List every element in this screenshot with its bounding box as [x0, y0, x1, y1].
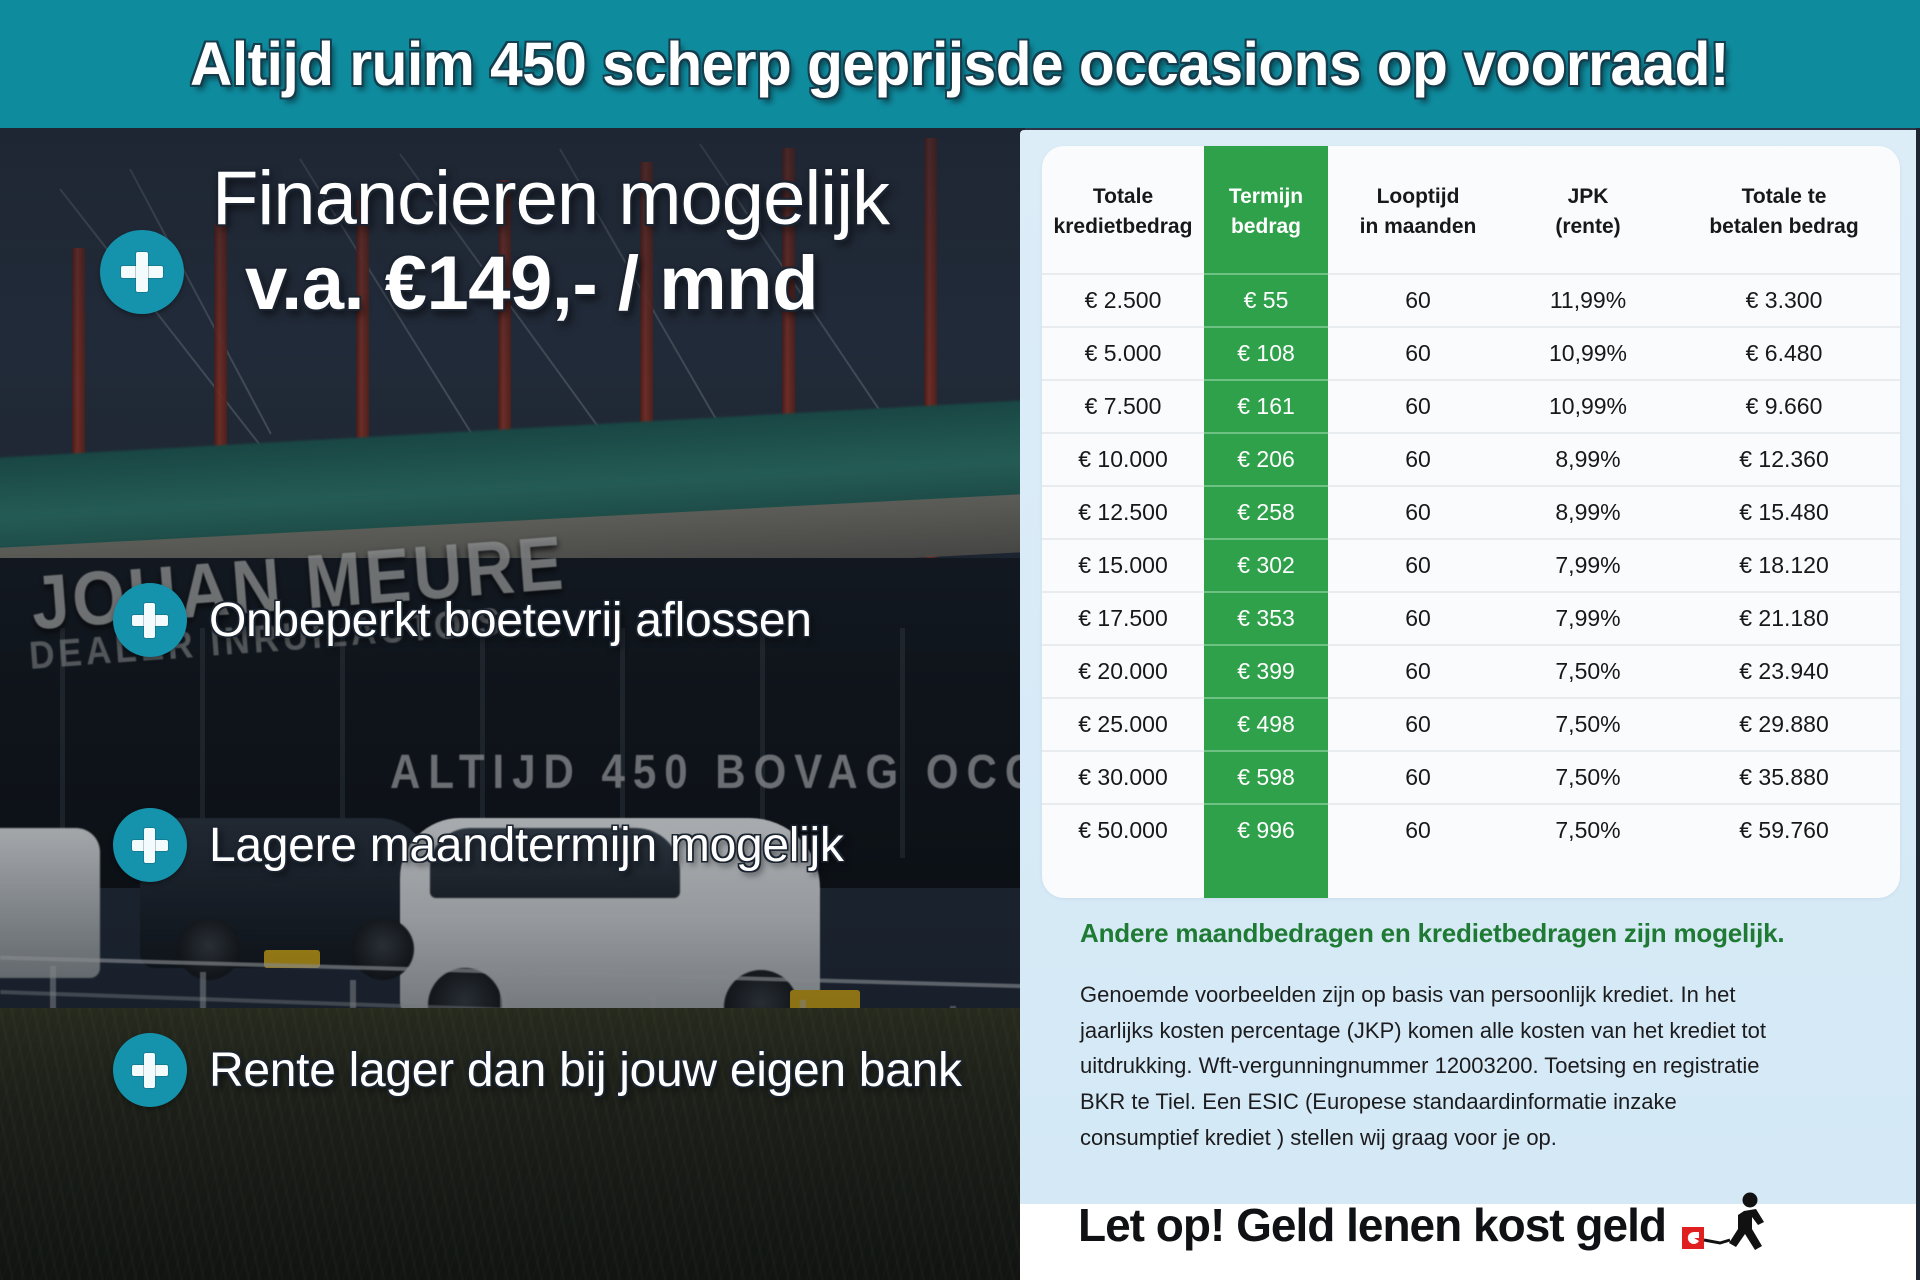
- fineprint-section: Andere maandbedragen en kredietbedragen …: [1020, 918, 1920, 1155]
- cell-krediet: € 30.000: [1042, 751, 1204, 804]
- cell-jkp: 7,50%: [1508, 698, 1668, 751]
- cell-looptijd: 60: [1328, 751, 1508, 804]
- feature-item-1-label: Onbeperkt boetevrij aflossen: [209, 593, 812, 648]
- column-header-looptijd: Looptijd in maanden: [1328, 146, 1508, 274]
- table-row: € 30.000€ 598607,50%€ 35.880: [1042, 751, 1900, 804]
- headline-text: Altijd ruim 450 scherp geprijsde occasio…: [191, 29, 1730, 99]
- table-row: € 25.000€ 498607,50%€ 29.880: [1042, 698, 1900, 751]
- cell-krediet: € 15.000: [1042, 539, 1204, 592]
- cell-totaal: € 29.880: [1668, 698, 1900, 751]
- cell-krediet: € 25.000: [1042, 698, 1204, 751]
- column-header-totaal: Totale te betalen bedrag: [1668, 146, 1900, 274]
- financing-table: Totale kredietbedrag Termijn bedrag Loop…: [1042, 146, 1900, 857]
- cell-krediet: € 10.000: [1042, 433, 1204, 486]
- warning-row: Let op! Geld lenen kost geld: [1020, 1170, 1920, 1280]
- feature-item-2-label: Lagere maandtermijn mogelijk: [209, 818, 844, 873]
- cell-termijn: € 302: [1204, 539, 1328, 592]
- cell-looptijd: 60: [1328, 592, 1508, 645]
- feature-item-1: Onbeperkt boetevrij aflossen: [113, 583, 812, 657]
- cell-termijn: € 996: [1204, 804, 1328, 857]
- cell-jkp: 10,99%: [1508, 380, 1668, 433]
- cell-totaal: € 59.760: [1668, 804, 1900, 857]
- plus-icon: [100, 230, 184, 314]
- cell-krediet: € 7.500: [1042, 380, 1204, 433]
- cell-totaal: € 3.300: [1668, 274, 1900, 327]
- walking-man-dragging-weight-icon: [1680, 1191, 1776, 1259]
- financing-table-body: € 2.500€ 556011,99%€ 3.300€ 5.000€ 10860…: [1042, 274, 1900, 857]
- feature-item-3-label: Rente lager dan bij jouw eigen bank: [209, 1043, 962, 1098]
- cell-termijn: € 353: [1204, 592, 1328, 645]
- fineprint-heading: Andere maandbedragen en kredietbedragen …: [1080, 918, 1862, 949]
- warning-text: Let op! Geld lenen kost geld: [1078, 1198, 1666, 1252]
- cell-krediet: € 17.500: [1042, 592, 1204, 645]
- cell-totaal: € 6.480: [1668, 327, 1900, 380]
- feature-headline-block: Financieren mogelijk v.a. €149,- / mnd: [100, 158, 889, 327]
- headline-financing-line2: v.a. €149,- / mnd: [212, 240, 889, 327]
- cell-looptijd: 60: [1328, 645, 1508, 698]
- cell-totaal: € 18.120: [1668, 539, 1900, 592]
- cell-jkp: 7,99%: [1508, 592, 1668, 645]
- table-row: € 10.000€ 206608,99%€ 12.360: [1042, 433, 1900, 486]
- feature-list: Financieren mogelijk v.a. €149,- / mnd O…: [0, 128, 1025, 1280]
- column-header-krediet: Totale kredietbedrag: [1042, 146, 1204, 274]
- table-row: € 5.000€ 1086010,99%€ 6.480: [1042, 327, 1900, 380]
- cell-krediet: € 20.000: [1042, 645, 1204, 698]
- table-row: € 20.000€ 399607,50%€ 23.940: [1042, 645, 1900, 698]
- cell-krediet: € 12.500: [1042, 486, 1204, 539]
- feature-item-3: Rente lager dan bij jouw eigen bank: [113, 1033, 962, 1107]
- top-headline-banner: Altijd ruim 450 scherp geprijsde occasio…: [0, 0, 1920, 128]
- cell-totaal: € 15.480: [1668, 486, 1900, 539]
- cell-jkp: 7,50%: [1508, 645, 1668, 698]
- cell-termijn: € 206: [1204, 433, 1328, 486]
- column-header-jkp: JPK (rente): [1508, 146, 1668, 274]
- cell-jkp: 8,99%: [1508, 486, 1668, 539]
- cell-termijn: € 161: [1204, 380, 1328, 433]
- cell-termijn: € 258: [1204, 486, 1328, 539]
- cell-totaal: € 23.940: [1668, 645, 1900, 698]
- table-row: € 12.500€ 258608,99%€ 15.480: [1042, 486, 1900, 539]
- table-header-row: Totale kredietbedrag Termijn bedrag Loop…: [1042, 146, 1900, 274]
- cell-krediet: € 5.000: [1042, 327, 1204, 380]
- table-row: € 7.500€ 1616010,99%€ 9.660: [1042, 380, 1900, 433]
- cell-looptijd: 60: [1328, 327, 1508, 380]
- cell-looptijd: 60: [1328, 539, 1508, 592]
- cell-totaal: € 21.180: [1668, 592, 1900, 645]
- cell-termijn: € 598: [1204, 751, 1328, 804]
- cell-termijn: € 399: [1204, 645, 1328, 698]
- table-row: € 15.000€ 302607,99%€ 18.120: [1042, 539, 1900, 592]
- cell-jkp: 7,99%: [1508, 539, 1668, 592]
- cell-looptijd: 60: [1328, 804, 1508, 857]
- plus-icon: [113, 808, 187, 882]
- cell-jkp: 7,50%: [1508, 804, 1668, 857]
- cell-krediet: € 50.000: [1042, 804, 1204, 857]
- panel-right-edge: [1916, 128, 1920, 1280]
- cell-looptijd: 60: [1328, 433, 1508, 486]
- cell-jkp: 11,99%: [1508, 274, 1668, 327]
- financing-panel: Totale kredietbedrag Termijn bedrag Loop…: [1020, 130, 1920, 1280]
- cell-looptijd: 60: [1328, 486, 1508, 539]
- cell-looptijd: 60: [1328, 698, 1508, 751]
- financing-table-card: Totale kredietbedrag Termijn bedrag Loop…: [1042, 146, 1900, 898]
- cell-looptijd: 60: [1328, 380, 1508, 433]
- fineprint-body: Genoemde voorbeelden zijn op basis van p…: [1080, 977, 1770, 1155]
- cell-termijn: € 55: [1204, 274, 1328, 327]
- advertisement-banner: Altijd ruim 450 scherp geprijsde occasio…: [0, 0, 1920, 1280]
- table-row: € 17.500€ 353607,99%€ 21.180: [1042, 592, 1900, 645]
- table-row: € 2.500€ 556011,99%€ 3.300: [1042, 274, 1900, 327]
- feature-item-2: Lagere maandtermijn mogelijk: [113, 808, 844, 882]
- cell-jkp: 7,50%: [1508, 751, 1668, 804]
- cell-jkp: 8,99%: [1508, 433, 1668, 486]
- cell-looptijd: 60: [1328, 274, 1508, 327]
- cell-totaal: € 35.880: [1668, 751, 1900, 804]
- cell-termijn: € 108: [1204, 327, 1328, 380]
- cell-krediet: € 2.500: [1042, 274, 1204, 327]
- table-row: € 50.000€ 996607,50%€ 59.760: [1042, 804, 1900, 857]
- headline-financing-line1: Financieren mogelijk: [212, 158, 889, 240]
- plus-icon: [113, 583, 187, 657]
- plus-icon: [113, 1033, 187, 1107]
- column-header-termijn: Termijn bedrag: [1204, 146, 1328, 274]
- cell-jkp: 10,99%: [1508, 327, 1668, 380]
- cell-termijn: € 498: [1204, 698, 1328, 751]
- cell-totaal: € 9.660: [1668, 380, 1900, 433]
- cell-totaal: € 12.360: [1668, 433, 1900, 486]
